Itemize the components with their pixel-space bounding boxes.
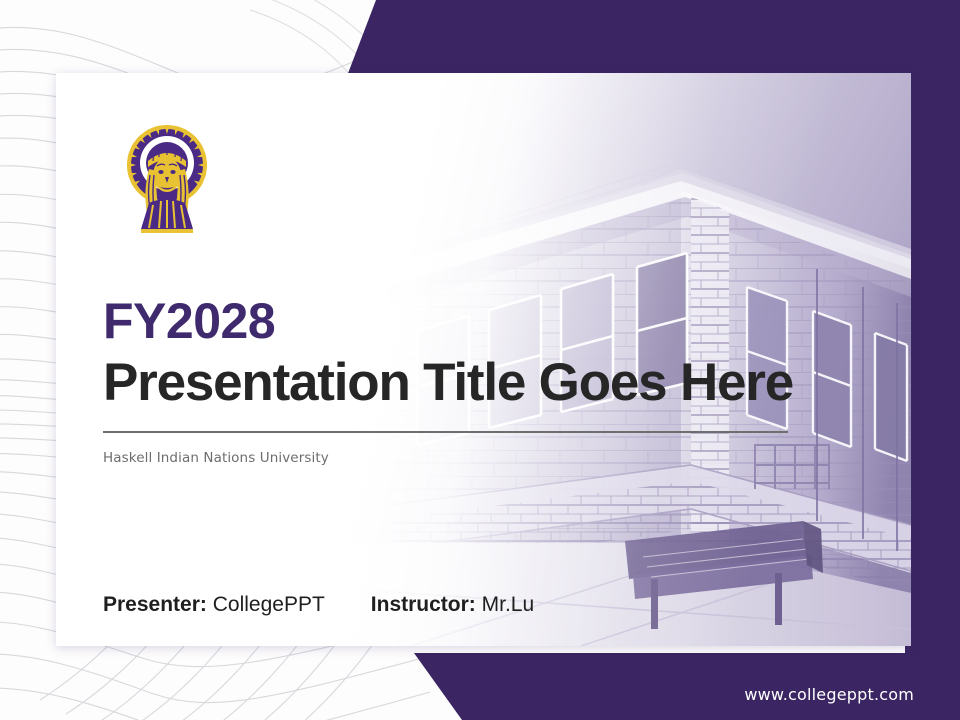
- presenter-field: Presenter: CollegePPT: [103, 593, 325, 617]
- title-divider-rule: [103, 431, 788, 433]
- slide-content-card: FY2028 Presentation Title Goes Here Hask…: [56, 73, 911, 646]
- instructor-value: Mr.Lu: [482, 593, 535, 616]
- title-block: FY2028 Presentation Title Goes Here Hask…: [103, 295, 863, 466]
- instructor-field: Instructor: Mr.Lu: [371, 593, 534, 617]
- presenter-label: Presenter:: [103, 593, 207, 616]
- fiscal-year-heading: FY2028: [103, 295, 863, 348]
- instructor-label: Instructor:: [371, 593, 476, 616]
- footer-website-url[interactable]: www.collegeppt.com: [744, 685, 914, 704]
- presentation-slide: FY2028 Presentation Title Goes Here Hask…: [0, 0, 960, 720]
- page-title: Presentation Title Goes Here: [103, 354, 863, 411]
- credits-row: Presenter: CollegePPT Instructor: Mr.Lu: [103, 593, 534, 617]
- university-subtitle: Haskell Indian Nations University: [103, 450, 863, 466]
- university-logo: [119, 117, 215, 237]
- presenter-value: CollegePPT: [213, 593, 325, 616]
